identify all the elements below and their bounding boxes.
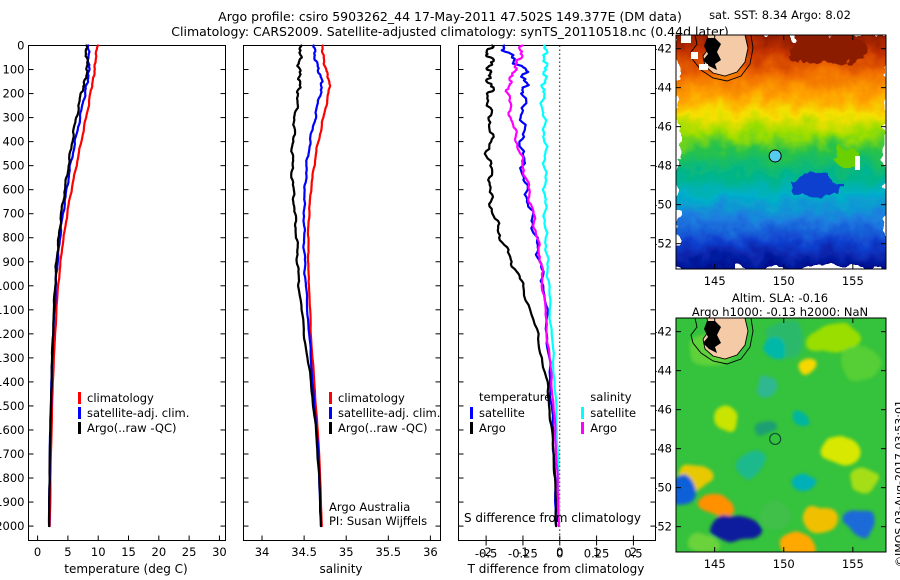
principal-investigator: PI: Susan Wijffels xyxy=(329,514,427,528)
svg-text:1600: 1600 xyxy=(0,423,25,437)
svg-text:0: 0 xyxy=(17,40,24,53)
svg-text:-1: -1 xyxy=(517,545,528,559)
legend-difference: temperaturesatelliteArgosalinitysatellit… xyxy=(470,390,636,435)
legend-item-label: satellite xyxy=(479,406,525,420)
panel-temperature: 0100200300400500600700800900100011001200… xyxy=(0,40,240,580)
legend-temperature: climatologysatellite-adj. clim.Argo(..ra… xyxy=(78,390,189,435)
legend-group: temperaturesatelliteArgo xyxy=(470,390,551,435)
svg-text:700: 700 xyxy=(3,207,25,221)
svg-text:1200: 1200 xyxy=(0,327,25,341)
svg-text:1700: 1700 xyxy=(0,447,25,461)
argo-profile-marker xyxy=(769,150,781,162)
svg-text:500: 500 xyxy=(3,159,25,173)
panel-salinity: 3434.53535.536 salinity xyxy=(215,40,455,580)
map-sla: 145150155 -42-44-46-48-50-52 xyxy=(655,309,900,577)
legend-item: satellite xyxy=(470,405,551,420)
depth-axis-ticks xyxy=(244,46,441,527)
salinity-curves xyxy=(291,46,330,527)
salinity-axis-ticks: 3434.53535.536 xyxy=(255,536,438,560)
temperature-axis-label: temperature (deg C) xyxy=(64,562,187,576)
temperature-axis-ticks: 051015202530 xyxy=(34,536,227,560)
depth-axis-ticks: 0100200300400500600700800900100011001200… xyxy=(0,40,226,533)
svg-text:-44: -44 xyxy=(655,364,672,378)
svg-text:1900: 1900 xyxy=(0,495,25,509)
svg-text:0: 0 xyxy=(556,545,563,559)
temperature-difference-axis-label: T difference from climatology xyxy=(467,562,645,576)
legend-color-swatch xyxy=(329,407,332,419)
legend-color-swatch xyxy=(78,407,81,419)
salinity-axis-label: salinity xyxy=(319,562,362,576)
panel-difference: -0.5-0.2500.250.5 -2-1012 T difference f… xyxy=(430,40,670,580)
svg-text:145: 145 xyxy=(704,274,726,288)
legend-item: satellite-adj. clim. xyxy=(329,405,440,420)
svg-text:0: 0 xyxy=(34,545,41,559)
legend-color-swatch xyxy=(470,407,473,419)
legend-salinity: climatologysatellite-adj. clim.Argo(..ra… xyxy=(329,390,440,435)
legend-color-swatch xyxy=(581,407,584,419)
legend-item-label: Argo(..raw -QC) xyxy=(87,421,177,435)
legend-item: climatology xyxy=(78,390,189,405)
legend-item-label: satellite-adj. clim. xyxy=(338,406,440,420)
svg-text:35: 35 xyxy=(339,545,354,559)
legend-item-label: climatology xyxy=(338,391,405,405)
svg-text:800: 800 xyxy=(3,231,25,245)
svg-text:2000: 2000 xyxy=(0,519,25,533)
svg-text:155: 155 xyxy=(842,557,864,571)
svg-text:1400: 1400 xyxy=(0,375,25,389)
svg-text:1500: 1500 xyxy=(0,399,25,413)
salinity-plot-area: 3434.53535.536 xyxy=(244,46,441,560)
svg-text:35.5: 35.5 xyxy=(375,545,401,559)
legend-item-label: satellite xyxy=(590,406,636,420)
sst-field xyxy=(676,34,886,269)
legend-group-header: temperature xyxy=(470,390,551,405)
legend-item: satellite xyxy=(581,405,636,420)
legend-item: climatology xyxy=(329,390,440,405)
svg-text:1300: 1300 xyxy=(0,351,25,365)
temperature-plot-area: 0100200300400500600700800900100011001200… xyxy=(0,40,227,559)
legend-color-swatch xyxy=(78,422,81,434)
svg-text:25: 25 xyxy=(182,545,197,559)
svg-text:600: 600 xyxy=(3,183,25,197)
legend-item-label: Argo(..raw -QC) xyxy=(338,421,428,435)
legend-item-label: Argo xyxy=(479,421,506,435)
legend-group: salinitysatelliteArgo xyxy=(581,390,636,435)
legend-item-label: satellite-adj. clim. xyxy=(87,406,189,420)
legend-item: satellite-adj. clim. xyxy=(78,405,189,420)
svg-text:150: 150 xyxy=(773,274,795,288)
legend-color-swatch xyxy=(581,422,584,434)
legend-item: Argo(..raw -QC) xyxy=(78,420,189,435)
svg-text:1100: 1100 xyxy=(0,303,25,317)
sst-map-title: sat. SST: 8.34 Argo: 8.02 xyxy=(660,8,900,22)
svg-text:-44: -44 xyxy=(655,81,672,95)
svg-text:15: 15 xyxy=(121,545,136,559)
difference-plot-area: -0.5-0.2500.250.5 -2-1012 xyxy=(459,46,656,561)
svg-text:34.5: 34.5 xyxy=(291,545,317,559)
svg-text:-42: -42 xyxy=(655,42,672,56)
svg-text:10: 10 xyxy=(91,545,106,559)
difference-curves xyxy=(485,46,559,527)
legend-color-swatch xyxy=(78,392,81,404)
svg-text:-52: -52 xyxy=(655,520,672,534)
legend-color-swatch xyxy=(329,392,332,404)
svg-text:-48: -48 xyxy=(655,159,672,173)
svg-text:1000: 1000 xyxy=(0,279,25,293)
svg-text:100: 100 xyxy=(3,63,25,77)
svg-text:20: 20 xyxy=(152,545,167,559)
legend-item-label: climatology xyxy=(87,391,154,405)
svg-text:-42: -42 xyxy=(655,325,672,339)
svg-text:150: 150 xyxy=(773,557,795,571)
temperature-curves xyxy=(49,46,98,527)
map-sst: 145150155 -42-44-46-48-50-52 xyxy=(655,26,900,294)
legend-item: Argo xyxy=(470,420,551,435)
svg-text:145: 145 xyxy=(704,557,726,571)
legend-color-swatch xyxy=(329,422,332,434)
sla-field xyxy=(669,318,886,557)
svg-text:200: 200 xyxy=(3,87,25,101)
legend-item-label: Argo xyxy=(590,421,617,435)
svg-text:-50: -50 xyxy=(655,198,672,212)
svg-text:-50: -50 xyxy=(655,481,672,495)
svg-text:155: 155 xyxy=(842,274,864,288)
salinity-difference-axis-label: S difference from climatology xyxy=(464,511,641,525)
svg-text:-48: -48 xyxy=(655,442,672,456)
legend-color-swatch xyxy=(470,422,473,434)
svg-text:-52: -52 xyxy=(655,237,672,251)
legend-item: Argo(..raw -QC) xyxy=(329,420,440,435)
svg-text:1: 1 xyxy=(593,545,600,559)
svg-text:1800: 1800 xyxy=(0,471,25,485)
svg-text:5: 5 xyxy=(64,545,71,559)
program-name: Argo Australia xyxy=(329,500,427,514)
sla-title-line-1: Altim. SLA: -0.16 xyxy=(660,291,900,305)
svg-text:34: 34 xyxy=(255,545,270,559)
svg-text:-46: -46 xyxy=(655,403,672,417)
attribution-block: Argo Australia PI: Susan Wijffels xyxy=(329,500,427,528)
legend-item: Argo xyxy=(581,420,636,435)
svg-text:-2: -2 xyxy=(480,545,491,559)
temperature-difference-axis-ticks: -2-1012 xyxy=(480,536,637,560)
legend-group-header: salinity xyxy=(581,390,636,405)
svg-text:300: 300 xyxy=(3,111,25,125)
svg-text:-46: -46 xyxy=(655,120,672,134)
svg-text:900: 900 xyxy=(3,255,25,269)
svg-text:400: 400 xyxy=(3,135,25,149)
svg-text:2: 2 xyxy=(630,545,637,559)
copyright-label: ©IMOS 03-Aug-2017 03:53:01 xyxy=(893,400,900,567)
